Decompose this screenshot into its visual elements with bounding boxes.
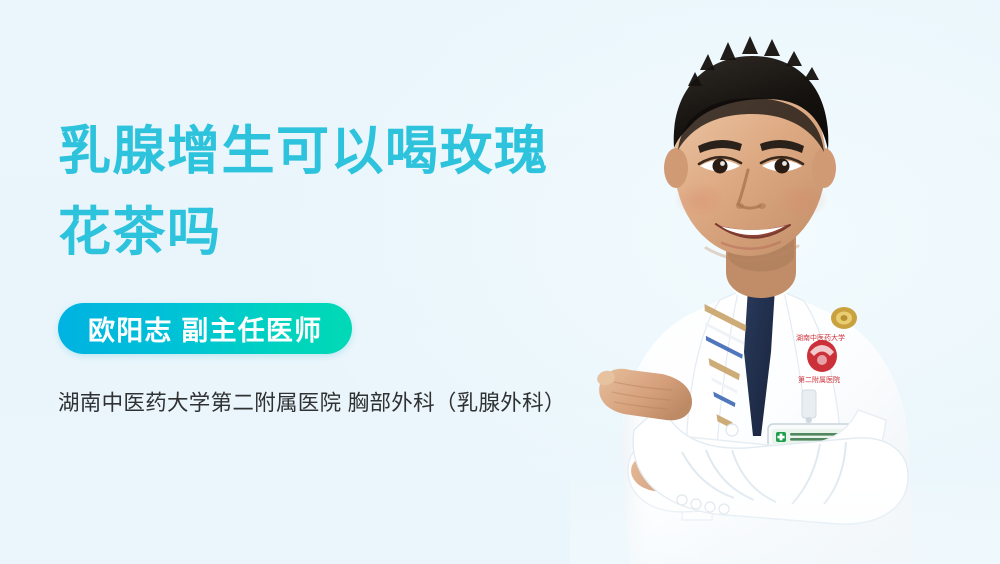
video-cover: 湖南中医药大学 第二附属医院	[0, 0, 1000, 564]
id-card-cross	[776, 432, 786, 442]
doctor-head	[664, 36, 836, 261]
doctor-badge-row: 欧阳志 副主任医师	[58, 303, 678, 354]
text-block: 乳腺增生可以喝玫瑰 花茶吗 欧阳志 副主任医师 湖南中医药大学第二附属医院 胸部…	[58, 112, 678, 417]
hospital-department-line: 湖南中医药大学第二附属医院 胸部外科（乳腺外科）	[58, 386, 678, 417]
svg-text:第二附属医院: 第二附属医院	[798, 375, 840, 384]
svg-text:湖南中医药大学: 湖南中医药大学	[796, 333, 845, 342]
coat-buttons	[726, 424, 738, 436]
doctor-credential-badge: 欧阳志 副主任医师	[58, 303, 352, 354]
page-title: 乳腺增生可以喝玫瑰 花茶吗	[58, 112, 678, 273]
lapel-pin	[831, 307, 857, 329]
